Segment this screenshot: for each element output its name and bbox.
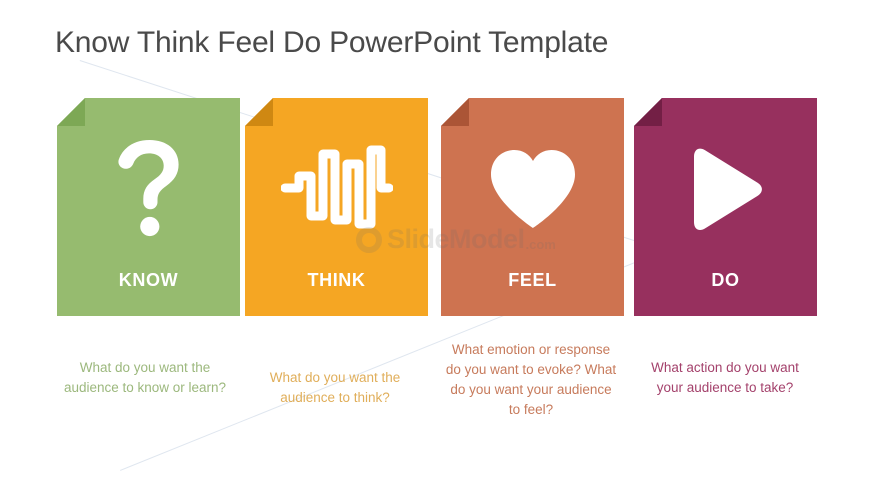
- card-know-label: KNOW: [57, 270, 240, 291]
- card-feel-fold-corner: [441, 98, 469, 126]
- caption-know: What do you want the audience to know or…: [57, 358, 233, 398]
- card-do-label: DO: [634, 270, 817, 291]
- card-know[interactable]: KNOW: [57, 98, 240, 316]
- play-triangle-icon: [634, 136, 817, 240]
- caption-think: What do you want the audience to think?: [247, 368, 423, 408]
- slide-canvas: Know Think Feel Do PowerPoint Template K…: [0, 0, 870, 489]
- caption-feel: What emotion or response do you want to …: [443, 340, 619, 420]
- question-mark-icon: [57, 136, 240, 240]
- card-think-label: THINK: [245, 270, 428, 291]
- card-feel[interactable]: FEEL: [441, 98, 624, 316]
- card-feel-label: FEEL: [441, 270, 624, 291]
- heart-icon: [441, 136, 624, 240]
- card-do[interactable]: DO: [634, 98, 817, 316]
- brainwave-icon: [245, 136, 428, 240]
- card-know-fold-corner: [57, 98, 85, 126]
- card-think[interactable]: THINK: [245, 98, 428, 316]
- caption-do: What action do you want your audience to…: [637, 358, 813, 398]
- cards-row: KNOW THINK FEEL: [0, 98, 870, 320]
- page-title: Know Think Feel Do PowerPoint Template: [55, 26, 608, 60]
- card-think-fold-corner: [245, 98, 273, 126]
- card-do-fold-corner: [634, 98, 662, 126]
